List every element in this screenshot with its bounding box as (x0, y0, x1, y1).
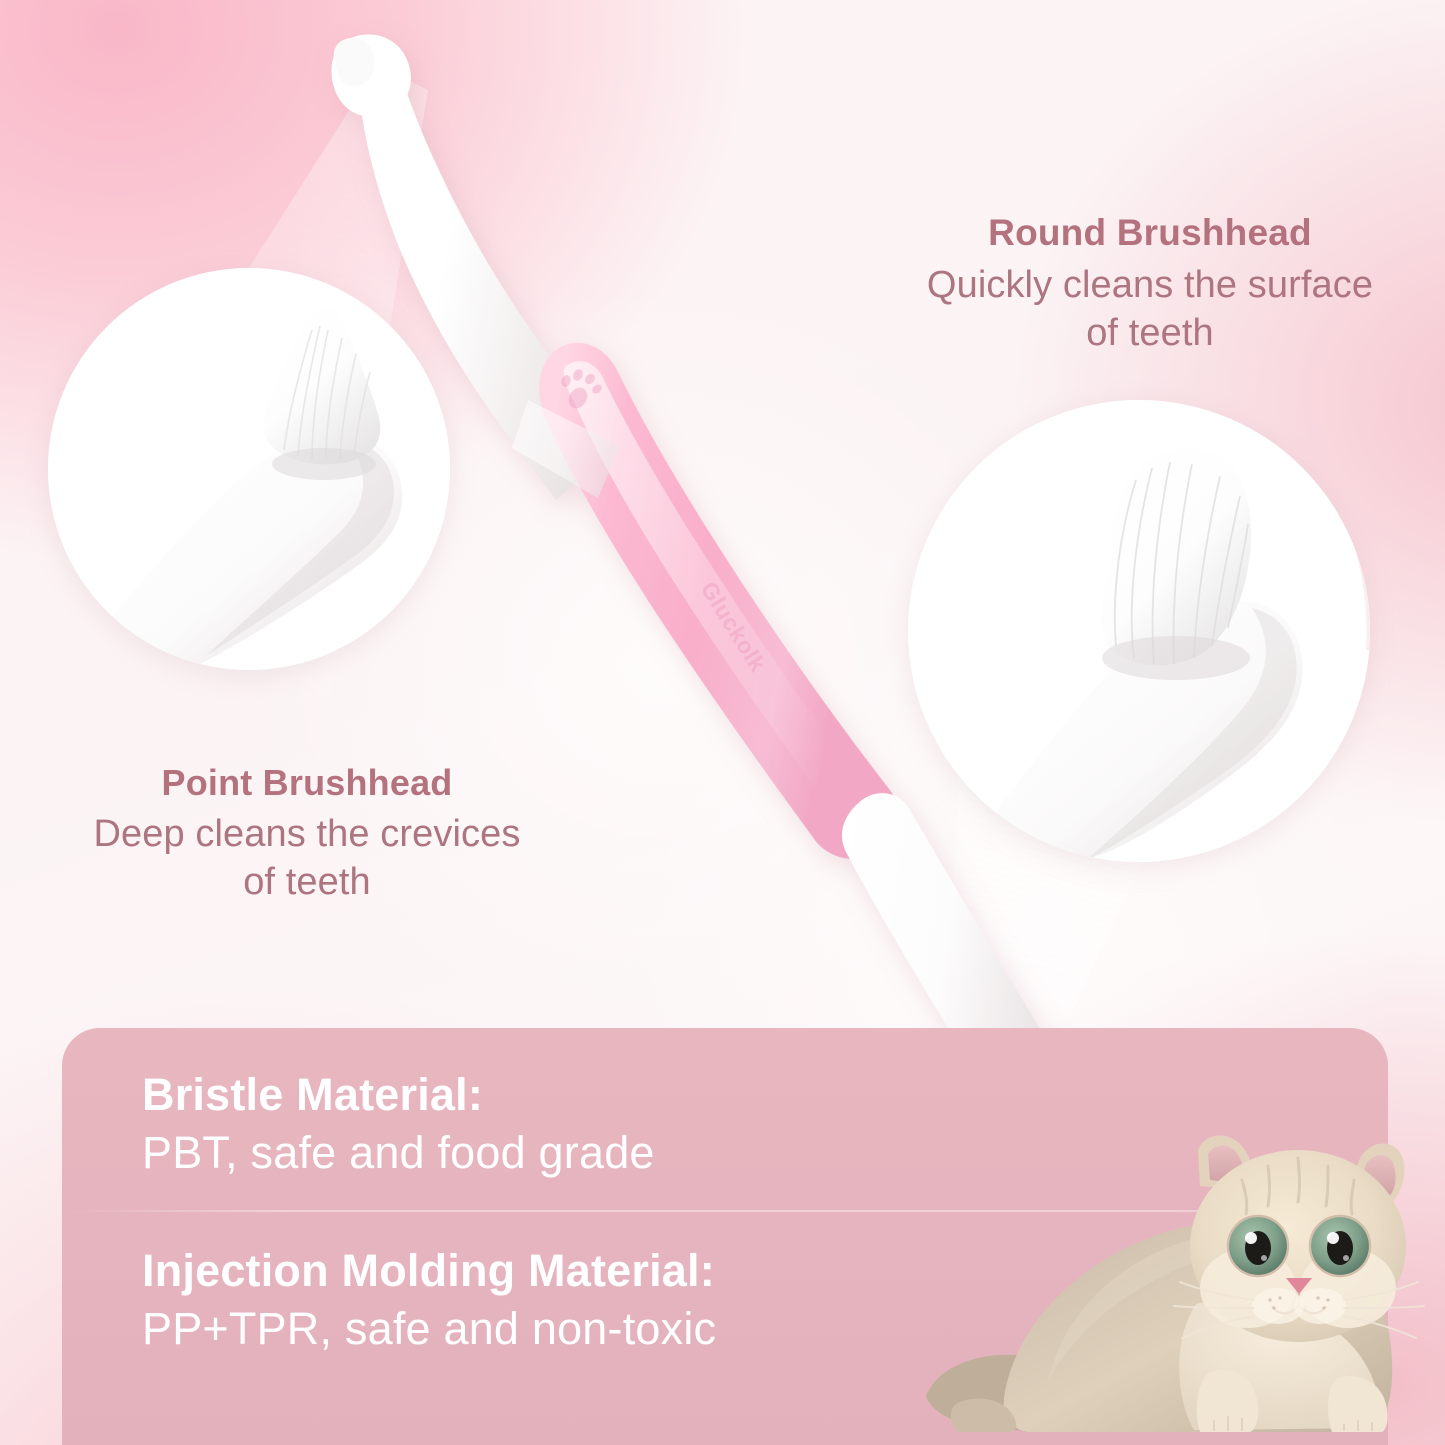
material-row-bristle: Bristle Material: PBT, safe and food gra… (142, 1070, 655, 1180)
round-brushhead-callout-circle (908, 400, 1370, 862)
feature-point-desc-line1: Deep cleans the crevices (8, 811, 606, 859)
material-bristle-value: PBT, safe and food grade (142, 1126, 655, 1180)
point-brushhead-callout-circle (48, 268, 450, 670)
material-bristle-label: Bristle Material: (142, 1070, 655, 1120)
feature-round-title: Round Brushhead (855, 212, 1445, 254)
material-row-injection: Injection Molding Material: PP+TPR, safe… (142, 1246, 716, 1356)
material-injection-value: PP+TPR, safe and non-toxic (142, 1302, 716, 1356)
feature-point-brushhead: Point Brushhead Deep cleans the crevices… (8, 762, 606, 906)
pointed-bristle-tuft-icon (48, 268, 450, 670)
cat-photo (908, 1128, 1445, 1445)
feature-round-brushhead: Round Brushhead Quickly cleans the surfa… (855, 212, 1445, 357)
round-bristle-tuft-icon (908, 400, 1370, 862)
material-injection-label: Injection Molding Material: (142, 1246, 716, 1296)
infographic-canvas: Gluckolk (0, 0, 1445, 1445)
feature-round-desc-line2: of teeth (855, 310, 1445, 358)
feature-round-desc-line1: Quickly cleans the surface (855, 262, 1445, 310)
feature-point-desc-line2: of teeth (8, 859, 606, 907)
feature-point-title: Point Brushhead (8, 762, 606, 803)
